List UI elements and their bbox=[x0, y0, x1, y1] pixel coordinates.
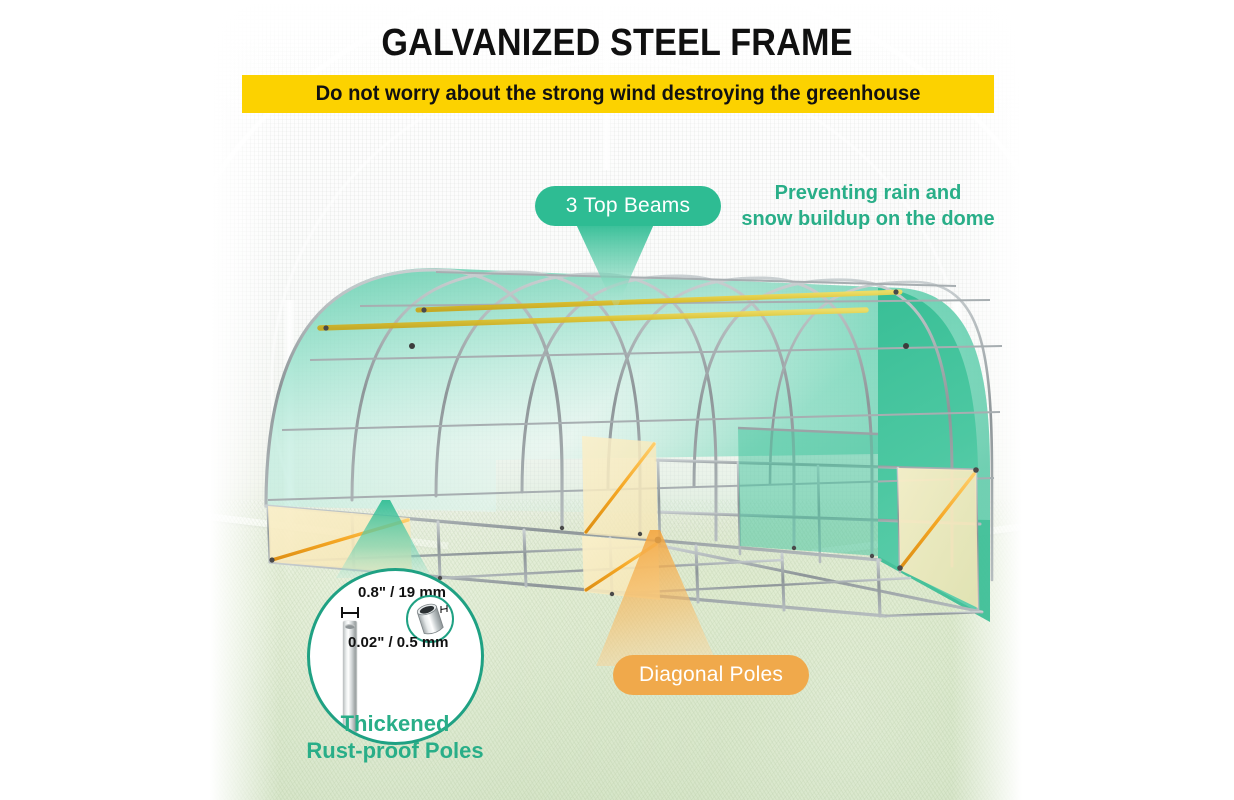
pole-detail-caption-line2: Rust-proof Poles bbox=[245, 737, 545, 764]
subtitle-banner: Do not worry about the strong wind destr… bbox=[242, 75, 994, 113]
infographic-canvas: GALVANIZED STEEL FRAME Do not worry abou… bbox=[0, 0, 1234, 800]
top-beams-pointer-cone bbox=[570, 224, 660, 314]
callout-diagonal-poles-label: Diagonal Poles bbox=[639, 663, 783, 687]
pole-detail-caption: Thickened Rust-proof Poles bbox=[245, 710, 545, 764]
callout-top-beams-label: 3 Top Beams bbox=[566, 194, 690, 218]
benefit-caption-line2: snow buildup on the dome bbox=[708, 206, 1028, 232]
callout-diagonal-poles[interactable]: Diagonal Poles bbox=[613, 655, 809, 695]
benefit-caption: Preventing rain and snow buildup on the … bbox=[708, 180, 1028, 232]
pole-wall-thickness-label: 0.02" / 0.5 mm bbox=[348, 634, 484, 651]
pole-detail-caption-line1: Thickened bbox=[245, 710, 545, 737]
subtitle-text: Do not worry about the strong wind destr… bbox=[316, 82, 921, 106]
callout-top-beams[interactable]: 3 Top Beams bbox=[535, 186, 721, 226]
benefit-caption-line1: Preventing rain and bbox=[708, 180, 1028, 206]
pole-diameter-label: 0.8" / 19 mm bbox=[332, 584, 472, 601]
page-title: GALVANIZED STEEL FRAME bbox=[62, 22, 1173, 65]
diagonal-poles-pointer-cone bbox=[560, 530, 780, 670]
diameter-measure-marker bbox=[341, 607, 359, 618]
